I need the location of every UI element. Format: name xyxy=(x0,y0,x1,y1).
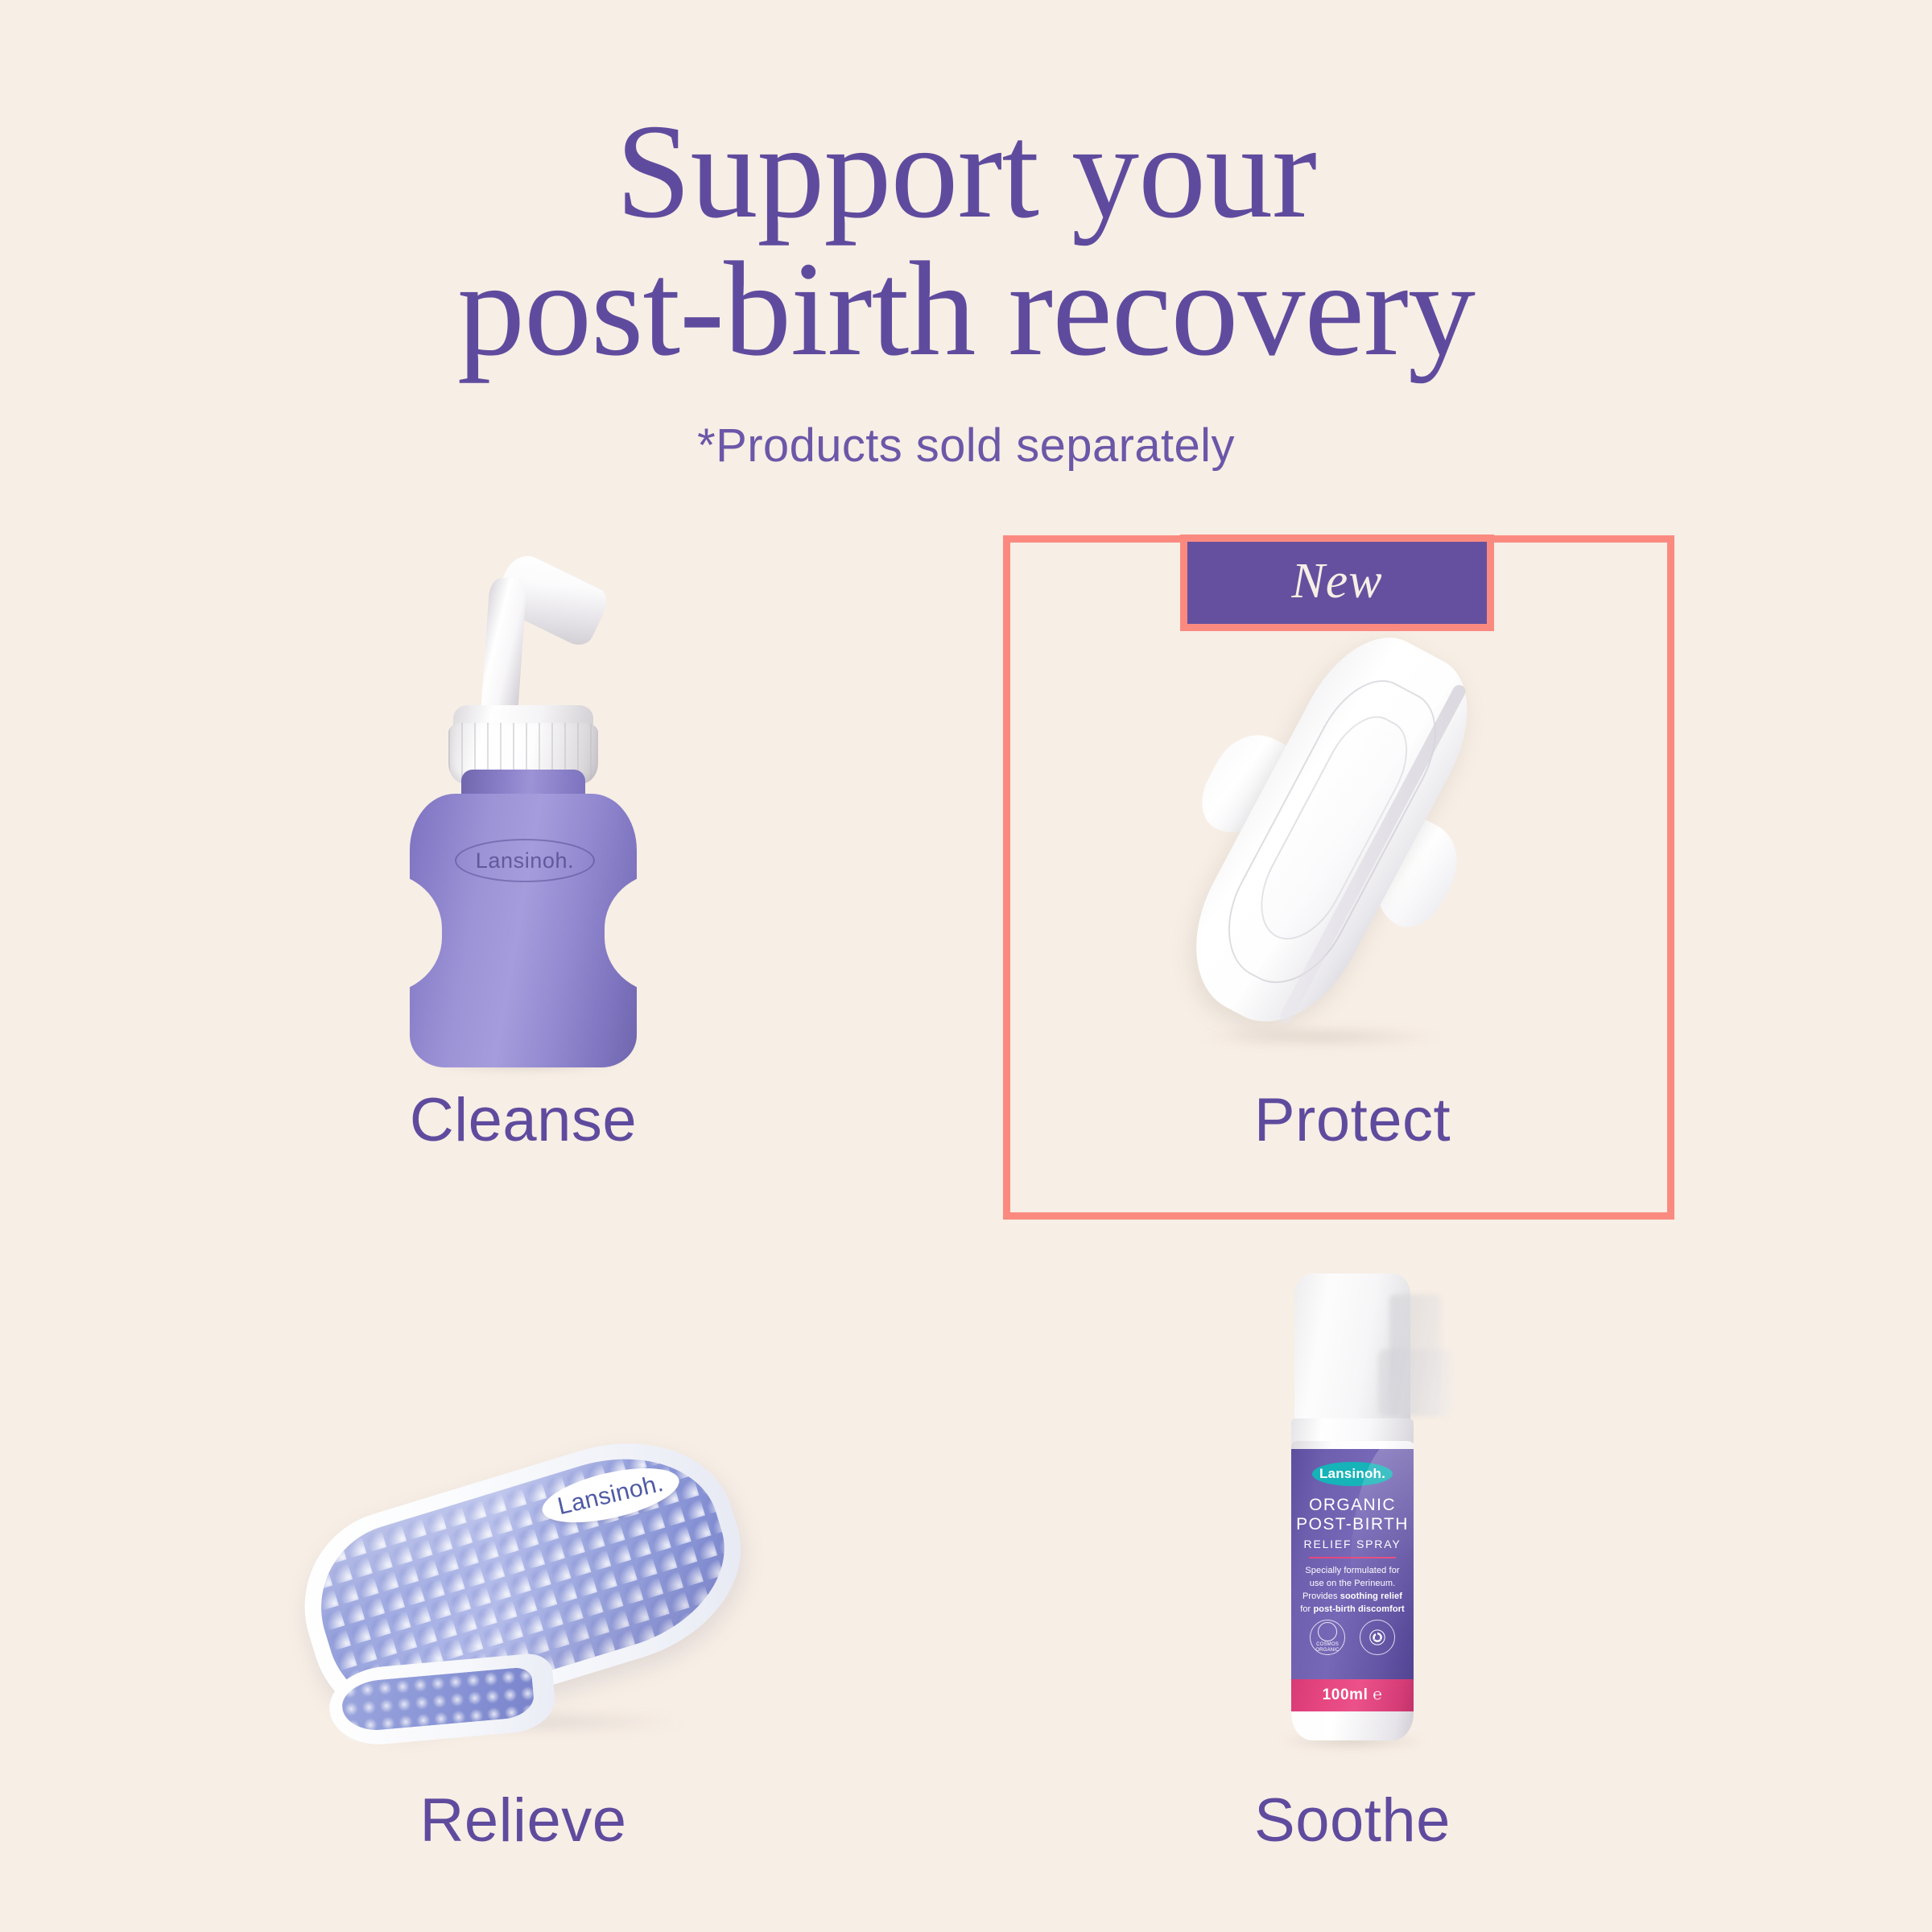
spray-bottle-body: Lansinoh. ORGANIC POST-BIRTH RELIEF SPRA… xyxy=(1291,1441,1414,1740)
peri-bottle-waist-right xyxy=(605,873,664,993)
volume-band: 100ml ℮ xyxy=(1291,1679,1414,1711)
ecocert-organic-badge: COSMOS ORGANIC xyxy=(1310,1620,1345,1655)
brand-logo-oval: Lansinoh. xyxy=(455,839,595,882)
peri-bottle-body: Lansinoh. xyxy=(410,794,637,1067)
new-badge: New xyxy=(1180,535,1494,631)
ecocert-ring-icon xyxy=(1318,1622,1337,1641)
volume-text: 100ml ℮ xyxy=(1323,1686,1383,1704)
spray-bottle-label: Lansinoh. ORGANIC POST-BIRTH RELIEF SPRA… xyxy=(1291,1449,1414,1679)
cooling-gel-pad-lip-texture xyxy=(341,1666,535,1733)
maternity-pad-icon xyxy=(1167,617,1538,1067)
page-title: Support your post-birth recovery xyxy=(0,103,1932,379)
product-image-soothe: Lansinoh. ORGANIC POST-BIRTH RELIEF SPRA… xyxy=(1071,1265,1634,1757)
product-label-relieve: Relieve xyxy=(420,1790,627,1851)
product-cell-protect[interactable]: Protect xyxy=(1071,555,1634,1151)
brand-name: Lansinoh. xyxy=(476,848,575,873)
spray-pump-head xyxy=(1378,1349,1452,1417)
cooling-gel-pad-icon: Lansinoh. xyxy=(274,1426,773,1748)
disclaimer-text: *Products sold separately xyxy=(0,419,1932,473)
relief-spray-bottle-icon: Lansinoh. ORGANIC POST-BIRTH RELIEF SPRA… xyxy=(1232,1274,1473,1757)
product-cell-cleanse[interactable]: Lansinoh. Cleanse xyxy=(242,555,805,1151)
product-image-protect xyxy=(1071,555,1634,1067)
product-label-soothe: Soothe xyxy=(1254,1790,1451,1851)
product-cell-soothe[interactable]: Lansinoh. ORGANIC POST-BIRTH RELIEF SPRA… xyxy=(1071,1264,1634,1851)
maternity-pad-body xyxy=(1165,615,1496,1049)
ecocert-caption: COSMOS ORGANIC xyxy=(1311,1642,1344,1653)
maternity-pad-shadow xyxy=(1199,1027,1441,1046)
cooling-gel-pad-body: Lansinoh. xyxy=(281,1414,766,1749)
product-label-protect: Protect xyxy=(1254,1090,1451,1151)
peri-bottle-spout xyxy=(481,578,527,713)
peri-bottle-waist-left xyxy=(382,873,442,993)
new-badge-label: New xyxy=(1291,553,1382,610)
peri-bottle-icon: Lansinoh. xyxy=(390,560,656,1067)
product-image-relieve: Lansinoh. xyxy=(242,1304,805,1748)
product-image-cleanse: Lansinoh. xyxy=(242,555,805,1067)
product-cell-relieve[interactable]: Lansinoh. Relieve xyxy=(242,1304,805,1851)
poster-canvas: Support your post-birth recovery *Produc… xyxy=(0,0,1932,1932)
spray-bottle-overcap xyxy=(1294,1274,1410,1422)
product-label-cleanse: Cleanse xyxy=(410,1090,637,1151)
